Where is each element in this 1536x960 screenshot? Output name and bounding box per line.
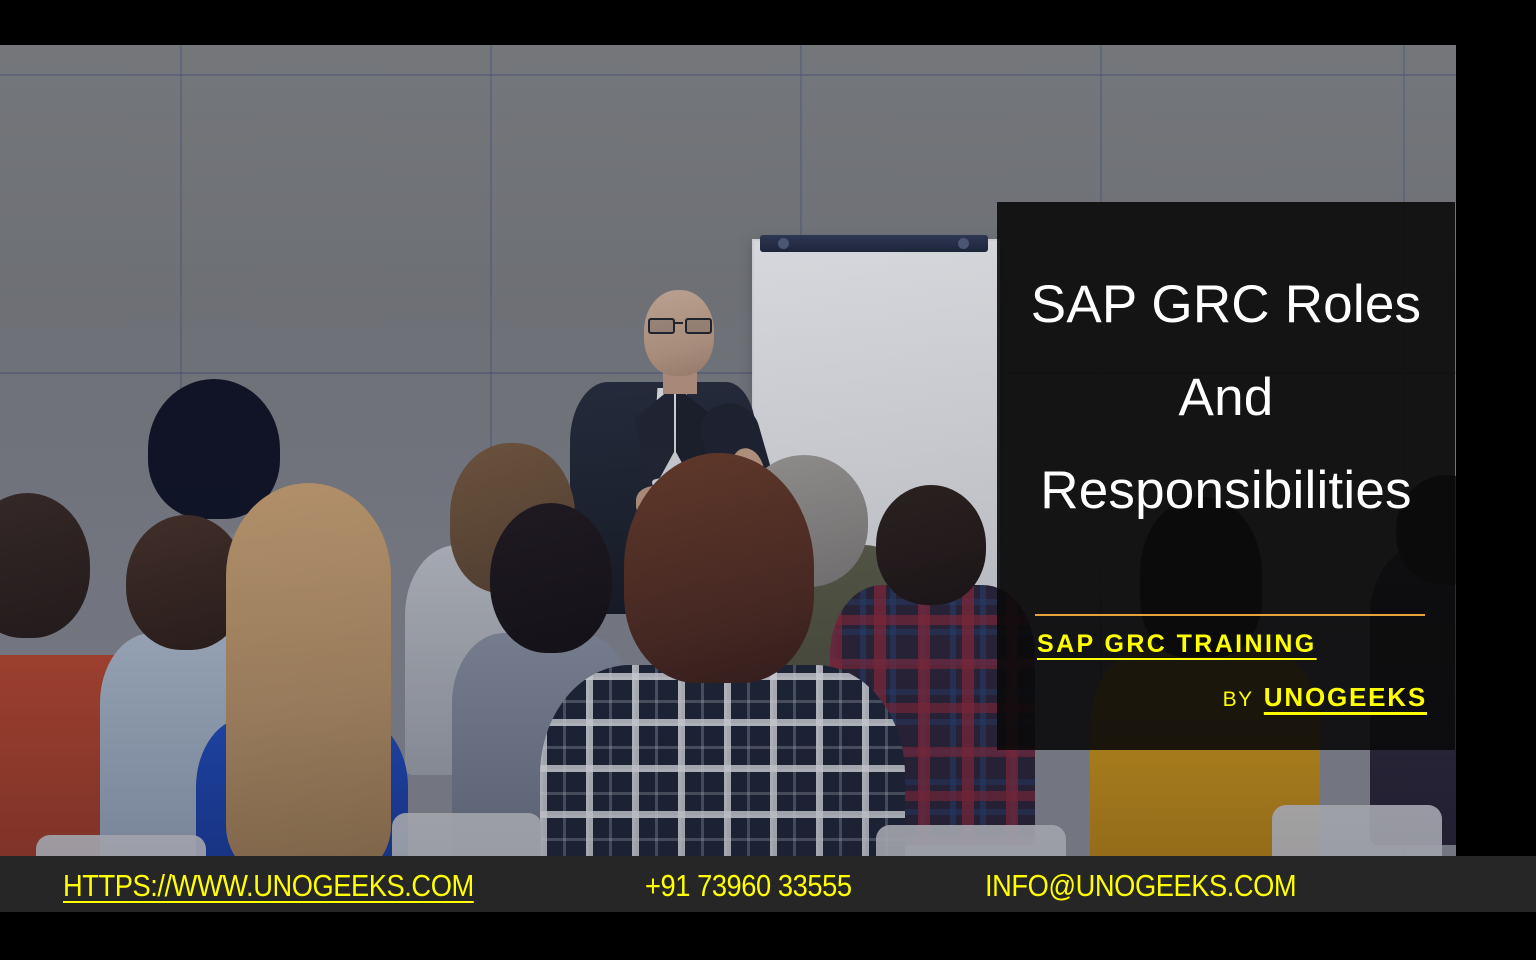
byline-label: BY [1223, 688, 1254, 711]
audience-head [490, 503, 612, 653]
website-link[interactable]: HTTPS://WWW.UNOGEEKS.COM [63, 868, 474, 904]
chair [876, 825, 1066, 856]
chair [36, 835, 206, 856]
phone-number[interactable]: +91 73960 33555 [645, 868, 852, 904]
audience-head [0, 493, 90, 638]
footer-bar: HTTPS://WWW.UNOGEEKS.COM +91 73960 33555… [0, 856, 1536, 912]
page-title-line-2: And [1019, 351, 1433, 444]
title-panel: SAP GRC Roles And Responsibilities SAP G… [997, 202, 1455, 750]
audience-head [148, 379, 280, 519]
page-title-line-1: SAP GRC Roles [1019, 258, 1433, 351]
chair [1272, 805, 1442, 856]
audience-torso [540, 665, 905, 856]
audience-head [876, 485, 986, 605]
subtitle-training-link[interactable]: SAP GRC TRAINING [1037, 630, 1317, 659]
glasses-lens [648, 318, 675, 334]
chair [392, 813, 542, 856]
audience-head [226, 483, 391, 856]
page-title-line-3: Responsibilities [1019, 444, 1433, 537]
wall-grid-line [0, 74, 1456, 76]
title-divider [1035, 614, 1425, 616]
email-address[interactable]: INFO@UNOGEEKS.COM [985, 868, 1296, 904]
audience-head [624, 453, 814, 683]
glasses-icon [648, 318, 710, 330]
subtitle-row: SAP GRC TRAINING [1037, 630, 1427, 659]
clip-knob [958, 238, 969, 249]
clip-knob [778, 238, 789, 249]
flipchart-clip [760, 235, 988, 252]
slide-canvas: SAP GRC Roles And Responsibilities SAP G… [0, 0, 1536, 960]
glasses-lens [685, 318, 712, 334]
glasses-bridge [673, 322, 683, 324]
brand-link[interactable]: UNOGEEKS [1264, 682, 1427, 712]
byline-row: BYUNOGEEKS [1037, 682, 1427, 713]
